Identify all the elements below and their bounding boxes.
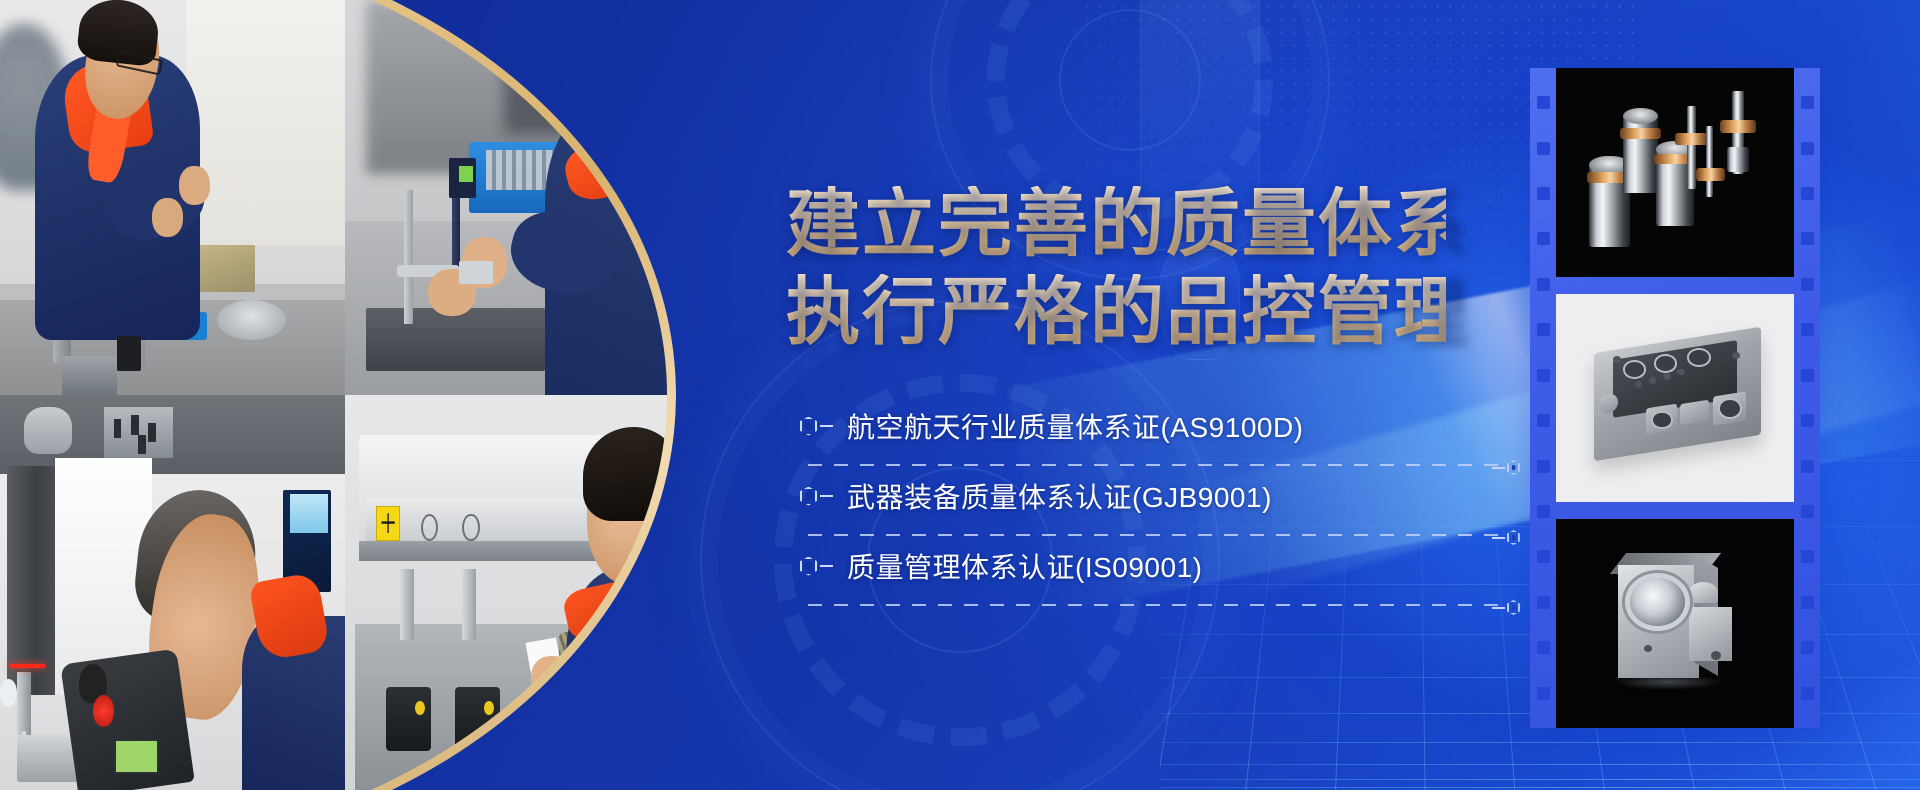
headline: 建立完善的质量体系 执行严格的品控管理 [786, 186, 1446, 350]
headline-line-2: 执行严格的品控管理 [786, 274, 1446, 350]
photo-cmm-operator [0, 395, 345, 790]
bullet-dash-icon [820, 425, 833, 427]
photo-collage [0, 0, 690, 790]
photo-collage-clip [0, 0, 690, 790]
certification-item-2: 质量管理体系认证(IS09001) [800, 540, 1460, 610]
hexagon-end-icon [1492, 460, 1520, 475]
headline-line-1: 建立完善的质量体系 [786, 186, 1446, 262]
hexagon-bullet-icon [800, 487, 817, 506]
certification-label: 航空航天行业质量体系证(AS9100D) [847, 406, 1304, 446]
photo-inspector-height-gauge [0, 0, 345, 395]
hexagon-end-icon [1492, 600, 1520, 615]
quality-system-banner: 建立完善的质量体系 执行严格的品控管理 航空航天行业质量体系证(AS9100D)… [0, 0, 1920, 790]
product-image-bearing-block [1556, 519, 1794, 728]
filmstrip-perforations-left [1530, 68, 1556, 728]
dashed-rule [808, 604, 1508, 606]
bullet-dash-icon [820, 495, 833, 497]
dashed-rule [808, 534, 1508, 536]
certification-item-1: 武器装备质量体系认证(GJB9001) [800, 470, 1460, 540]
hexagon-bullet-icon [800, 557, 817, 576]
certification-item-0: 航空航天行业质量体系证(AS9100D) [800, 400, 1460, 470]
certification-list: 航空航天行业质量体系证(AS9100D) 武器装备质量体系认证(GJB9001) [800, 400, 1460, 610]
certification-label: 武器装备质量体系认证(GJB9001) [847, 476, 1272, 516]
bullet-dash-icon [820, 565, 833, 567]
dashed-rule [808, 464, 1508, 466]
hexagon-bullet-icon [800, 417, 817, 436]
photo-cnc-operator [345, 395, 690, 790]
hexagon-end-icon [1492, 530, 1520, 545]
product-filmstrip [1530, 68, 1820, 728]
certification-label: 质量管理体系认证(IS09001) [847, 546, 1202, 586]
photo-female-technician-bench [345, 0, 690, 395]
product-image-cylindrical-components [1556, 68, 1794, 277]
filmstrip-perforations-right [1794, 68, 1820, 728]
product-image-machined-housing [1556, 294, 1794, 503]
